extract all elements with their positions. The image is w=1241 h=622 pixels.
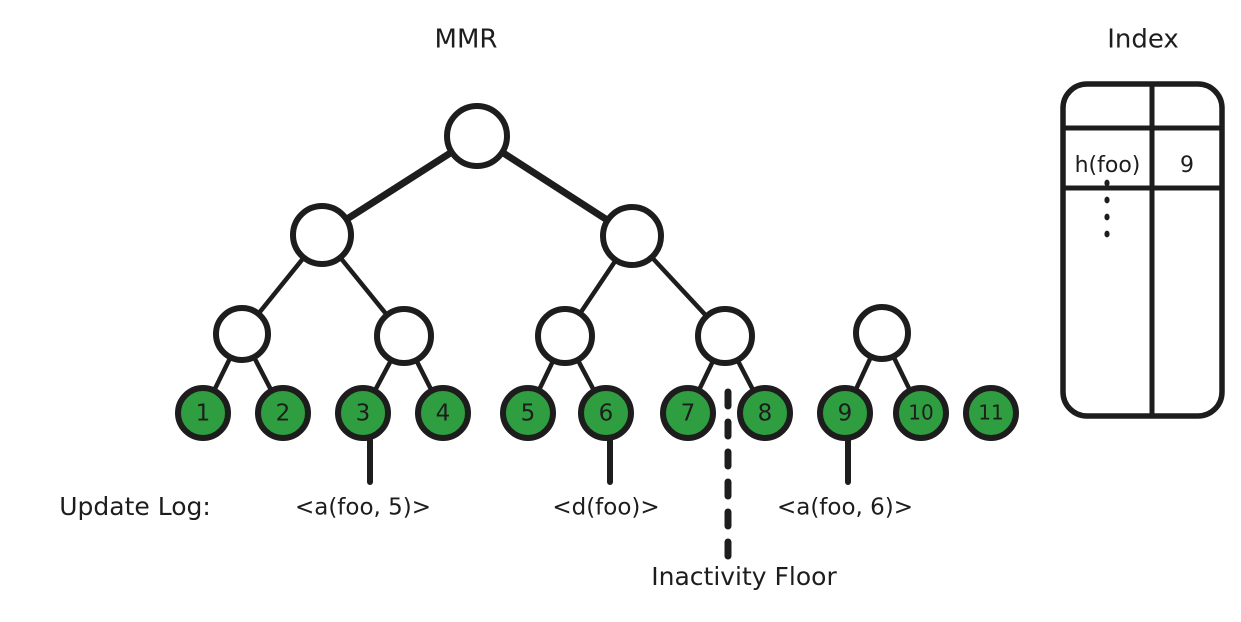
tree-edge [340,257,388,316]
tree-leaf-node-11[interactable]: 11 [966,388,1016,438]
page-title: MMR [435,25,498,55]
leaf-label: 9 [838,401,853,427]
update-log-entry: <d(foo)> [552,495,659,521]
leaf-label: 5 [521,401,536,427]
leaf-label: 10 [908,401,933,425]
index-ellipsis-dot [1104,214,1109,221]
tree-leaf-node-6[interactable]: 6 [581,388,631,438]
inactivity-floor-label: Inactivity Floor [651,562,837,591]
update-log-entries-layer: <a(foo, 5)><d(foo)><a(foo, 6)> [295,495,913,521]
index-ellipsis-dot [1104,180,1109,187]
index-ellipsis-dot [1104,197,1109,204]
tree-internal-node[interactable] [447,106,507,166]
tree-edge [577,359,595,392]
leaf-label: 8 [758,401,773,427]
index-ellipsis-dot [1104,231,1109,238]
leaf-label: 11 [978,401,1003,425]
tree-internal-node[interactable] [293,206,351,264]
tree-internal-node[interactable] [698,309,752,363]
leaf-label: 7 [681,401,696,427]
leaf-label: 3 [356,401,371,427]
tree-internal-node[interactable] [377,309,431,363]
node-circle [698,309,752,363]
tree-leaf-node-8[interactable]: 8 [740,388,790,438]
index-title: Index [1107,25,1179,55]
tree-leaf-node-5[interactable]: 5 [503,388,553,438]
leaf-nodes-layer: 1234567891011 [178,388,1016,438]
tree-edge [651,257,707,317]
tree-internal-node[interactable] [216,308,268,360]
tree-internal-node[interactable] [856,307,908,359]
node-circle [856,307,908,359]
tree-leaf-node-3[interactable]: 3 [338,388,388,438]
update-log-entry: <a(foo, 6)> [777,495,913,521]
node-circle [293,206,351,264]
leaf-label: 2 [276,401,291,427]
tree-edge [855,356,871,392]
tree-edge [698,359,713,391]
update-log-entry: <a(foo, 5)> [295,495,431,521]
tree-edge [579,259,616,314]
tree-edge [893,355,911,391]
tree-leaf-node-4[interactable]: 4 [418,388,468,438]
internal-nodes-layer [216,106,908,363]
leaf-label: 6 [599,401,614,427]
tree-edge [214,356,231,391]
tree-leaf-node-9[interactable]: 9 [820,388,870,438]
tree-edge [374,359,392,392]
tree-edge [501,152,608,221]
tree-edge [737,359,754,392]
tree-edge [538,359,553,391]
leaf-label: 1 [196,401,211,427]
index-row-value: 9 [1180,153,1194,178]
tree-edge [346,152,453,220]
tree-edge [416,359,432,391]
node-circle [377,309,431,363]
node-circle [538,309,592,363]
tree-edge [258,257,305,315]
index-table-border [1063,84,1222,416]
node-circle [603,207,661,265]
tree-leaf-node-2[interactable]: 2 [258,388,308,438]
tree-edge [254,356,272,392]
tree-internal-node[interactable] [603,207,661,265]
tree-leaf-node-1[interactable]: 1 [178,388,228,438]
node-circle [216,308,268,360]
tree-leaf-node-7[interactable]: 7 [663,388,713,438]
update-log-stems-layer [370,440,848,482]
tree-leaf-node-10[interactable]: 10 [896,388,946,438]
node-circle [447,106,507,166]
leaf-label: 4 [436,401,451,427]
index-row-key: h(foo) [1075,153,1141,178]
index-table-layer: h(foo)9 [1063,84,1222,416]
update-log-label: Update Log: [59,492,211,521]
tree-internal-node[interactable] [538,309,592,363]
mmr-diagram-canvas: 1234567891011 MMR Update Log: <a(foo, 5)… [0,0,1241,622]
